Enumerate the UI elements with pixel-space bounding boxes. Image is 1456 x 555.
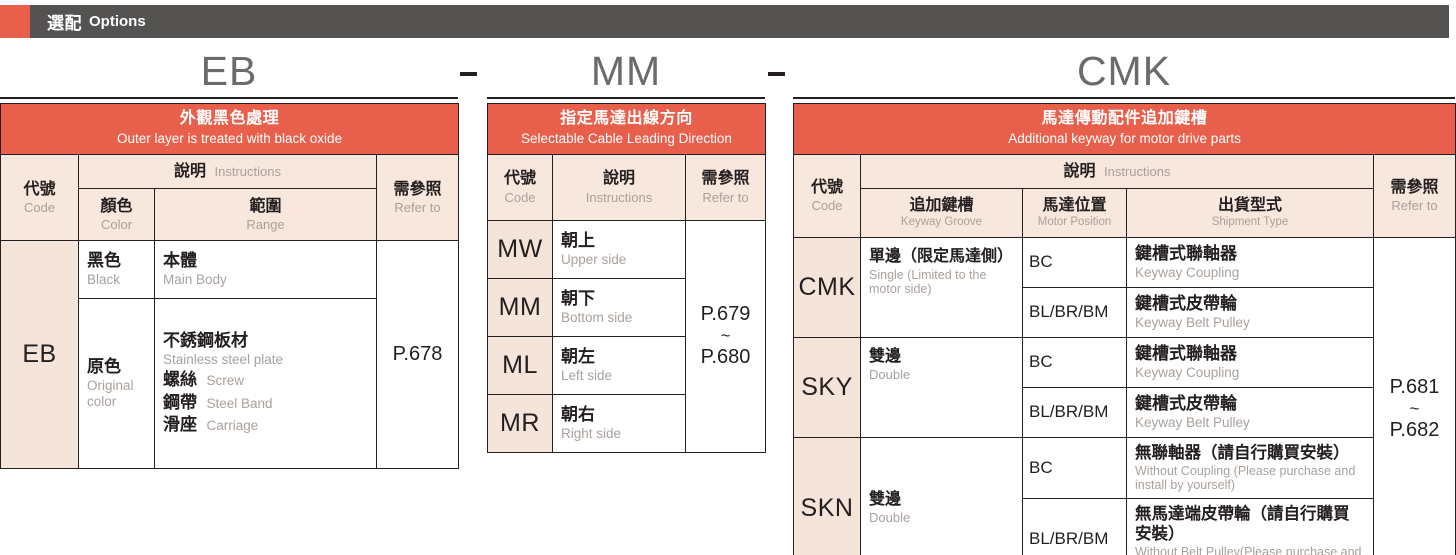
accent-swatch bbox=[0, 5, 30, 38]
table-row: 代號 Code 說明 Instructions 需參照 Refer to bbox=[794, 154, 1456, 188]
mm-header-refer: 需參照 Refer to bbox=[686, 154, 766, 220]
eb-header-refer-en: Refer to bbox=[380, 200, 455, 216]
cmk-group2-keyway-en: Double bbox=[869, 511, 1014, 526]
mm-row3-code: MR bbox=[488, 394, 553, 452]
mm-row0-cjk: 朝上 bbox=[561, 231, 677, 251]
eb-row1-range-item-1: 螺絲 Screw bbox=[163, 370, 368, 391]
mm-refer-tilde: ~ bbox=[686, 327, 765, 345]
cmk-group0-row1-ship: 鍵槽式皮帶輪 Keyway Belt Pulley bbox=[1127, 287, 1374, 337]
mm-band: 指定馬達出線方向 Selectable Cable Leading Direct… bbox=[488, 104, 766, 155]
cmk-group1-code: SKY bbox=[794, 337, 861, 437]
eb-row0-color-cjk: 黑色 bbox=[87, 251, 146, 271]
options-page: 選配 Options EB MM CMK 外觀黑色處理 Outer layer … bbox=[0, 0, 1456, 555]
eb-header-refer: 需參照 Refer to bbox=[377, 154, 459, 240]
cmk-band-en: Additional keyway for motor drive parts bbox=[798, 131, 1451, 147]
cmk-group2-row0-ship: 無聯軸器（請自行購買安裝） Without Coupling (Please p… bbox=[1127, 437, 1374, 498]
eb-row1-range-item-2: 鋼帶 Steel Band bbox=[163, 393, 368, 414]
cmk-group0-keyway: 單邊（限定馬達側） Single (Limited to the motor s… bbox=[861, 237, 1023, 337]
eb-header-instructions: 說明 Instructions bbox=[79, 154, 377, 188]
eb-row1-range-2-en: Steel Band bbox=[206, 396, 272, 411]
mm-refer-value: P.679 ~ P.680 bbox=[686, 220, 766, 452]
mm-row1-cjk: 朝下 bbox=[561, 289, 677, 309]
eb-header-range-cjk: 範圍 bbox=[158, 197, 373, 216]
mm-header-instructions-cjk: 說明 bbox=[556, 169, 682, 188]
mm-header-code-en: Code bbox=[491, 190, 549, 206]
table-row: 外觀黑色處理 Outer layer is treated with black… bbox=[1, 104, 459, 155]
mm-row3-en: Right side bbox=[561, 426, 677, 442]
eb-row0-range: 本體 Main Body bbox=[155, 240, 377, 298]
table-row: CMK 單邊（限定馬達側） Single (Limited to the mot… bbox=[794, 237, 1456, 287]
eb-row0-range-cjk: 本體 bbox=[163, 251, 368, 271]
cmk-header-shipment-cjk: 出貨型式 bbox=[1130, 196, 1370, 215]
cmk-group0-code: CMK bbox=[794, 237, 861, 337]
cmk-group0-row0-ship: 鍵槽式聯軸器 Keyway Coupling bbox=[1127, 237, 1374, 287]
eb-row1-range-1-cjk: 螺絲 bbox=[163, 370, 197, 389]
mm-row2-cjk: 朝左 bbox=[561, 347, 677, 367]
cmk-group0-keyway-cjk: 單邊（限定馬達側） bbox=[869, 248, 1014, 267]
cmk-group2-row0-motor: BC bbox=[1023, 437, 1127, 498]
mm-row1-desc: 朝下 Bottom side bbox=[553, 278, 686, 336]
cmk-header-instructions-cjk: 說明 bbox=[1064, 163, 1096, 180]
cmk-header-code: 代號 Code bbox=[794, 154, 861, 237]
eb-band-cjk: 外觀黑色處理 bbox=[5, 110, 454, 129]
cmk-group2-row1-motor: BL/BR/BM bbox=[1023, 499, 1127, 555]
mm-refer-top: P.679 bbox=[701, 303, 751, 325]
section-title-cmk: CMK bbox=[793, 48, 1455, 94]
cmk-header-refer: 需參照 Refer to bbox=[1374, 154, 1456, 237]
mm-row3-desc: 朝右 Right side bbox=[553, 394, 686, 452]
cmk-group1-keyway-en: Double bbox=[869, 368, 1014, 383]
eb-header-refer-cjk: 需參照 bbox=[380, 180, 455, 199]
cmk-group2-row0-en: Without Coupling (Please purchase and in… bbox=[1135, 464, 1365, 492]
mm-refer-bottom: P.680 bbox=[701, 346, 751, 368]
cmk-group1-row0-motor: BC bbox=[1023, 337, 1127, 387]
cmk-header-shipment-en: Shipment Type bbox=[1130, 216, 1370, 230]
cmk-header-motorpos: 馬達位置 Motor Position bbox=[1023, 188, 1127, 237]
mm-header-refer-en: Refer to bbox=[689, 190, 762, 206]
table-row: MW 朝上 Upper side P.679 ~ P.680 bbox=[488, 220, 766, 278]
cmk-group2-row1-cjk: 無馬達端皮帶輪（請自行購買安裝） bbox=[1135, 505, 1365, 544]
mm-band-en: Selectable Cable Leading Direction bbox=[492, 131, 761, 147]
options-title: 選配 Options bbox=[30, 5, 1449, 38]
cmk-header-shipment: 出貨型式 Shipment Type bbox=[1127, 188, 1374, 237]
eb-header-code-cjk: 代號 bbox=[4, 180, 75, 199]
section-rule-mm bbox=[487, 97, 765, 99]
eb-header-code-en: Code bbox=[4, 200, 75, 216]
eb-row1-range-0-en: Stainless steel plate bbox=[163, 352, 368, 368]
cmk-header-refer-cjk: 需參照 bbox=[1377, 178, 1452, 197]
table-row: 代號 Code 說明 Instructions 需參照 Refer to bbox=[1, 154, 459, 188]
eb-row1-color: 原色 Original color bbox=[79, 298, 155, 468]
eb-band-en: Outer layer is treated with black oxide bbox=[5, 131, 454, 147]
eb-row0-color-en: Black bbox=[87, 272, 146, 288]
cmk-group1-row1-motor: BL/BR/BM bbox=[1023, 387, 1127, 437]
eb-header-color: 顏色 Color bbox=[79, 188, 155, 240]
table-row: 指定馬達出線方向 Selectable Cable Leading Direct… bbox=[488, 104, 766, 155]
separator-dash-2 bbox=[768, 72, 785, 76]
eb-header-color-en: Color bbox=[82, 217, 151, 233]
cmk-group1-keyway-cjk: 雙邊 bbox=[869, 348, 1014, 367]
mm-header-instructions-en: Instructions bbox=[556, 190, 682, 206]
cmk-header-code-en: Code bbox=[797, 198, 857, 214]
mm-header-refer-cjk: 需參照 bbox=[689, 169, 762, 188]
cmk-group2-keyway-cjk: 雙邊 bbox=[869, 491, 1014, 510]
mm-header-code-cjk: 代號 bbox=[491, 169, 549, 188]
options-title-cjk: 選配 bbox=[47, 9, 82, 34]
cmk-group2-keyway: 雙邊 Double bbox=[861, 437, 1023, 555]
mm-band-cjk: 指定馬達出線方向 bbox=[492, 110, 761, 129]
cmk-header-motorpos-cjk: 馬達位置 bbox=[1026, 196, 1123, 215]
section-title-mm: MM bbox=[487, 48, 765, 94]
eb-row1-range-2-cjk: 鋼帶 bbox=[163, 393, 197, 412]
eb-row1-range-0-cjk: 不銹鋼板材 bbox=[163, 331, 368, 351]
eb-row1-range-3-cjk: 滑座 bbox=[163, 415, 197, 434]
mm-row1-code: MM bbox=[488, 278, 553, 336]
cmk-group2-row1-en: Without Belt Pulley(Please purchase and … bbox=[1135, 545, 1365, 555]
cmk-group0-row0-motor: BC bbox=[1023, 237, 1127, 287]
table-row: 馬達傳動配件追加鍵槽 Additional keyway for motor d… bbox=[794, 104, 1456, 155]
mm-row0-desc: 朝上 Upper side bbox=[553, 220, 686, 278]
eb-header-range: 範圍 Range bbox=[155, 188, 377, 240]
cmk-header-refer-en: Refer to bbox=[1377, 198, 1452, 214]
cmk-refer-value: P.681 ~ P.682 bbox=[1374, 237, 1456, 555]
cmk-group1-keyway: 雙邊 Double bbox=[861, 337, 1023, 437]
cmk-refer-top: P.681 bbox=[1390, 376, 1440, 398]
table-row: 追加鍵槽 Keyway Groove 馬達位置 Motor Position 出… bbox=[794, 188, 1456, 237]
cmk-header-code-cjk: 代號 bbox=[797, 178, 857, 197]
cmk-refer-tilde: ~ bbox=[1374, 400, 1455, 418]
cmk-group0-row0-cjk: 鍵槽式聯軸器 bbox=[1135, 244, 1365, 264]
eb-code-value: EB bbox=[1, 240, 79, 468]
table-row: EB 黑色 Black 本體 Main Body P.678 bbox=[1, 240, 459, 298]
table-eb: 外觀黑色處理 Outer layer is treated with black… bbox=[0, 103, 459, 469]
eb-band: 外觀黑色處理 Outer layer is treated with black… bbox=[1, 104, 459, 155]
separator-dash-1 bbox=[460, 72, 477, 76]
options-header-bar: 選配 Options bbox=[0, 5, 1449, 38]
eb-refer-value: P.678 bbox=[377, 240, 459, 468]
section-rule-cmk bbox=[793, 97, 1455, 99]
cmk-group0-row0-en: Keyway Coupling bbox=[1135, 265, 1365, 281]
cmk-group1-row0-en: Keyway Coupling bbox=[1135, 365, 1365, 381]
cmk-group2-row1-ship: 無馬達端皮帶輪（請自行購買安裝） Without Belt Pulley(Ple… bbox=[1127, 499, 1374, 555]
eb-row1-range-3-en: Carriage bbox=[206, 418, 258, 433]
eb-header-instructions-en: Instructions bbox=[214, 164, 280, 179]
cmk-header-motorpos-en: Motor Position bbox=[1026, 216, 1123, 230]
mm-row2-en: Left side bbox=[561, 368, 677, 384]
mm-row3-cjk: 朝右 bbox=[561, 405, 677, 425]
options-title-en: Options bbox=[89, 13, 146, 30]
eb-row0-range-en: Main Body bbox=[163, 272, 368, 288]
table-row: SKY 雙邊 Double BC 鍵槽式聯軸器 Keyway Coupling bbox=[794, 337, 1456, 387]
mm-row0-en: Upper side bbox=[561, 252, 677, 268]
eb-row0-color: 黑色 Black bbox=[79, 240, 155, 298]
section-title-eb: EB bbox=[0, 48, 458, 94]
mm-row0-code: MW bbox=[488, 220, 553, 278]
eb-header-code: 代號 Code bbox=[1, 154, 79, 240]
cmk-group2-code: SKN bbox=[794, 437, 861, 555]
mm-header-instructions: 說明 Instructions bbox=[553, 154, 686, 220]
eb-row1-range-1-en: Screw bbox=[206, 373, 244, 388]
eb-row1-range: 不銹鋼板材 Stainless steel plate 螺絲 Screw 鋼帶 … bbox=[155, 298, 377, 468]
mm-row2-desc: 朝左 Left side bbox=[553, 336, 686, 394]
cmk-group1-row1-ship: 鍵槽式皮帶輪 Keyway Belt Pulley bbox=[1127, 387, 1374, 437]
table-cmk: 馬達傳動配件追加鍵槽 Additional keyway for motor d… bbox=[793, 103, 1456, 555]
eb-row1-color-en: Original color bbox=[87, 378, 146, 410]
cmk-group2-row0-cjk: 無聯軸器（請自行購買安裝） bbox=[1135, 444, 1365, 463]
mm-row1-en: Bottom side bbox=[561, 310, 677, 326]
cmk-band-cjk: 馬達傳動配件追加鍵槽 bbox=[798, 110, 1451, 129]
cmk-header-keyway-en: Keyway Groove bbox=[864, 216, 1019, 230]
cmk-header-instructions-en: Instructions bbox=[1104, 164, 1170, 179]
cmk-group0-keyway-en: Single (Limited to the motor side) bbox=[869, 268, 1014, 296]
mm-row2-code: ML bbox=[488, 336, 553, 394]
eb-row1-range-item-0: 不銹鋼板材 Stainless steel plate bbox=[163, 331, 368, 368]
cmk-group1-row1-en: Keyway Belt Pulley bbox=[1135, 415, 1365, 431]
cmk-group1-row0-ship: 鍵槽式聯軸器 Keyway Coupling bbox=[1127, 337, 1374, 387]
section-rule-eb bbox=[0, 97, 458, 99]
cmk-group0-row1-en: Keyway Belt Pulley bbox=[1135, 315, 1365, 331]
cmk-band: 馬達傳動配件追加鍵槽 Additional keyway for motor d… bbox=[794, 104, 1456, 155]
eb-row1-range-item-3: 滑座 Carriage bbox=[163, 415, 368, 436]
eb-header-color-cjk: 顏色 bbox=[82, 197, 151, 216]
eb-header-range-en: Range bbox=[158, 217, 373, 233]
table-row: 代號 Code 說明 Instructions 需參照 Refer to bbox=[488, 154, 766, 220]
cmk-header-keyway-cjk: 追加鍵槽 bbox=[864, 196, 1019, 215]
cmk-group0-row1-cjk: 鍵槽式皮帶輪 bbox=[1135, 294, 1365, 314]
eb-row1-color-cjk: 原色 bbox=[87, 357, 146, 377]
cmk-refer-bottom: P.682 bbox=[1390, 419, 1440, 441]
cmk-header-keyway: 追加鍵槽 Keyway Groove bbox=[861, 188, 1023, 237]
cmk-group1-row0-cjk: 鍵槽式聯軸器 bbox=[1135, 344, 1365, 364]
cmk-group0-row1-motor: BL/BR/BM bbox=[1023, 287, 1127, 337]
cmk-group1-row1-cjk: 鍵槽式皮帶輪 bbox=[1135, 394, 1365, 414]
mm-header-code: 代號 Code bbox=[488, 154, 553, 220]
table-row: SKN 雙邊 Double BC 無聯軸器（請自行購買安裝） Without C… bbox=[794, 437, 1456, 498]
table-mm: 指定馬達出線方向 Selectable Cable Leading Direct… bbox=[487, 103, 766, 453]
cmk-header-instructions: 說明 Instructions bbox=[861, 154, 1374, 188]
eb-header-instructions-cjk: 說明 bbox=[174, 163, 206, 180]
